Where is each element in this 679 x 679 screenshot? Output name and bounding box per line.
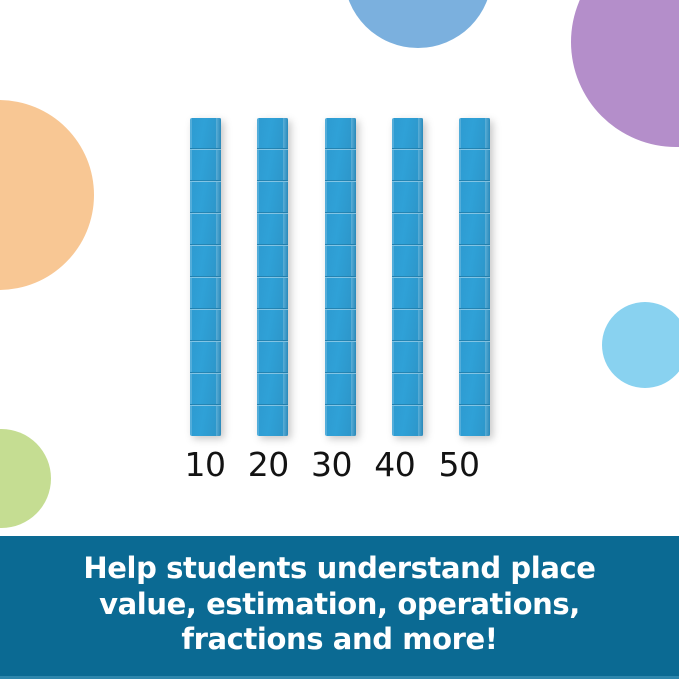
unit-cube	[190, 341, 221, 373]
unit-cube	[392, 309, 423, 341]
base-ten-rod	[257, 118, 288, 436]
base-ten-rod	[459, 118, 490, 436]
unit-cube	[459, 213, 490, 245]
unit-cube	[257, 405, 288, 436]
unit-cube	[325, 181, 356, 213]
unit-cube	[257, 245, 288, 277]
unit-cube	[459, 373, 490, 405]
unit-cube	[257, 118, 288, 149]
unit-cube	[257, 149, 288, 181]
unit-cube	[392, 405, 423, 436]
unit-cube	[257, 341, 288, 373]
unit-cube	[459, 245, 490, 277]
unit-cube	[190, 149, 221, 181]
rod-group	[190, 118, 490, 436]
unit-cube	[257, 373, 288, 405]
caption-banner: Help students understand place value, es…	[0, 536, 679, 679]
rod-label-30: 30	[301, 448, 363, 481]
unit-cube	[257, 309, 288, 341]
base-ten-rod	[190, 118, 221, 436]
unit-cube	[325, 373, 356, 405]
unit-cube	[459, 181, 490, 213]
caption-text: Help students understand place value, es…	[83, 551, 595, 657]
unit-cube	[190, 118, 221, 149]
rod-label-20: 20	[237, 448, 299, 481]
unit-cube	[190, 405, 221, 436]
unit-cube	[257, 181, 288, 213]
unit-cube	[325, 213, 356, 245]
unit-cube	[459, 341, 490, 373]
unit-cube	[392, 149, 423, 181]
rod-value-labels: 10 20 30 40 50	[190, 444, 490, 484]
unit-cube	[392, 118, 423, 149]
unit-cube	[190, 245, 221, 277]
unit-cube	[190, 181, 221, 213]
unit-cube	[190, 213, 221, 245]
base-ten-rods-illustration: 10 20 30 40 50	[0, 0, 679, 536]
unit-cube	[257, 213, 288, 245]
rod-label-10: 10	[174, 448, 236, 481]
rod-label-40: 40	[364, 448, 426, 481]
unit-cube	[459, 277, 490, 309]
base-ten-rod	[392, 118, 423, 436]
unit-cube	[392, 341, 423, 373]
unit-cube	[392, 213, 423, 245]
unit-cube	[392, 245, 423, 277]
unit-cube	[190, 373, 221, 405]
unit-cube	[325, 149, 356, 181]
unit-cube	[459, 309, 490, 341]
unit-cube	[325, 118, 356, 149]
unit-cube	[459, 118, 490, 149]
unit-cube	[190, 277, 221, 309]
unit-cube	[459, 149, 490, 181]
rod-label-50: 50	[428, 448, 490, 481]
unit-cube	[325, 341, 356, 373]
base-ten-rod	[325, 118, 356, 436]
unit-cube	[392, 181, 423, 213]
unit-cube	[392, 373, 423, 405]
product-graphic: 10 20 30 40 50 Help students understand …	[0, 0, 679, 679]
unit-cube	[325, 309, 356, 341]
unit-cube	[325, 245, 356, 277]
unit-cube	[392, 277, 423, 309]
unit-cube	[459, 405, 490, 436]
unit-cube	[190, 309, 221, 341]
unit-cube	[325, 277, 356, 309]
unit-cube	[325, 405, 356, 436]
unit-cube	[257, 277, 288, 309]
